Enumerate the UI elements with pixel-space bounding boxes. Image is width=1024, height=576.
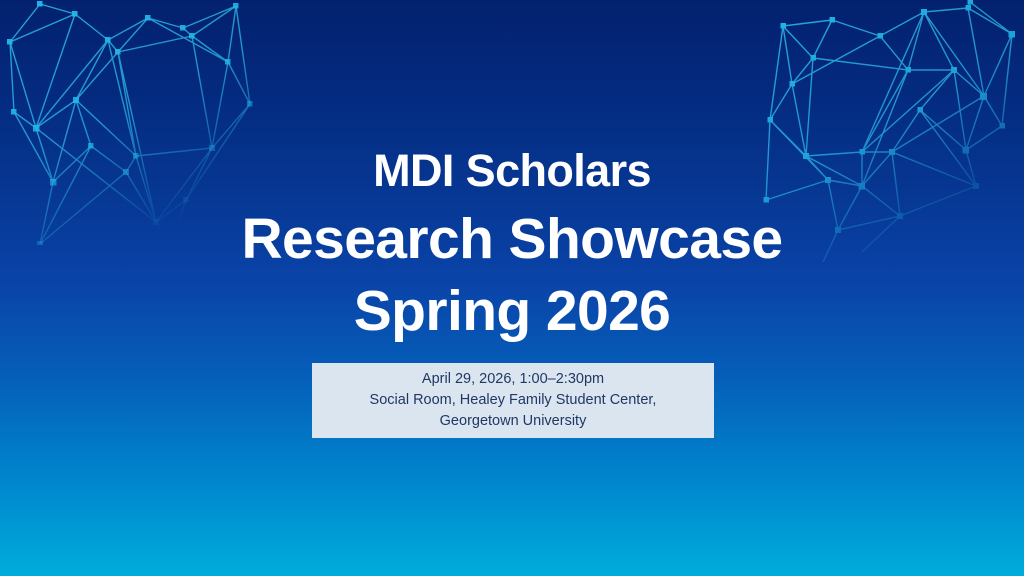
- title-line-3: Spring 2026: [0, 276, 1024, 346]
- event-datetime: April 29, 2026, 1:00–2:30pm: [422, 369, 604, 390]
- event-institution: Georgetown University: [440, 411, 587, 432]
- poster-title: MDI Scholars Research Showcase Spring 20…: [0, 140, 1024, 346]
- title-line-2: Research Showcase: [0, 202, 1024, 276]
- event-venue: Social Room, Healey Family Student Cente…: [370, 390, 657, 411]
- event-poster: MDI Scholars Research Showcase Spring 20…: [0, 0, 1024, 576]
- title-line-1: MDI Scholars: [0, 140, 1024, 202]
- event-details-box: April 29, 2026, 1:00–2:30pm Social Room,…: [312, 363, 714, 438]
